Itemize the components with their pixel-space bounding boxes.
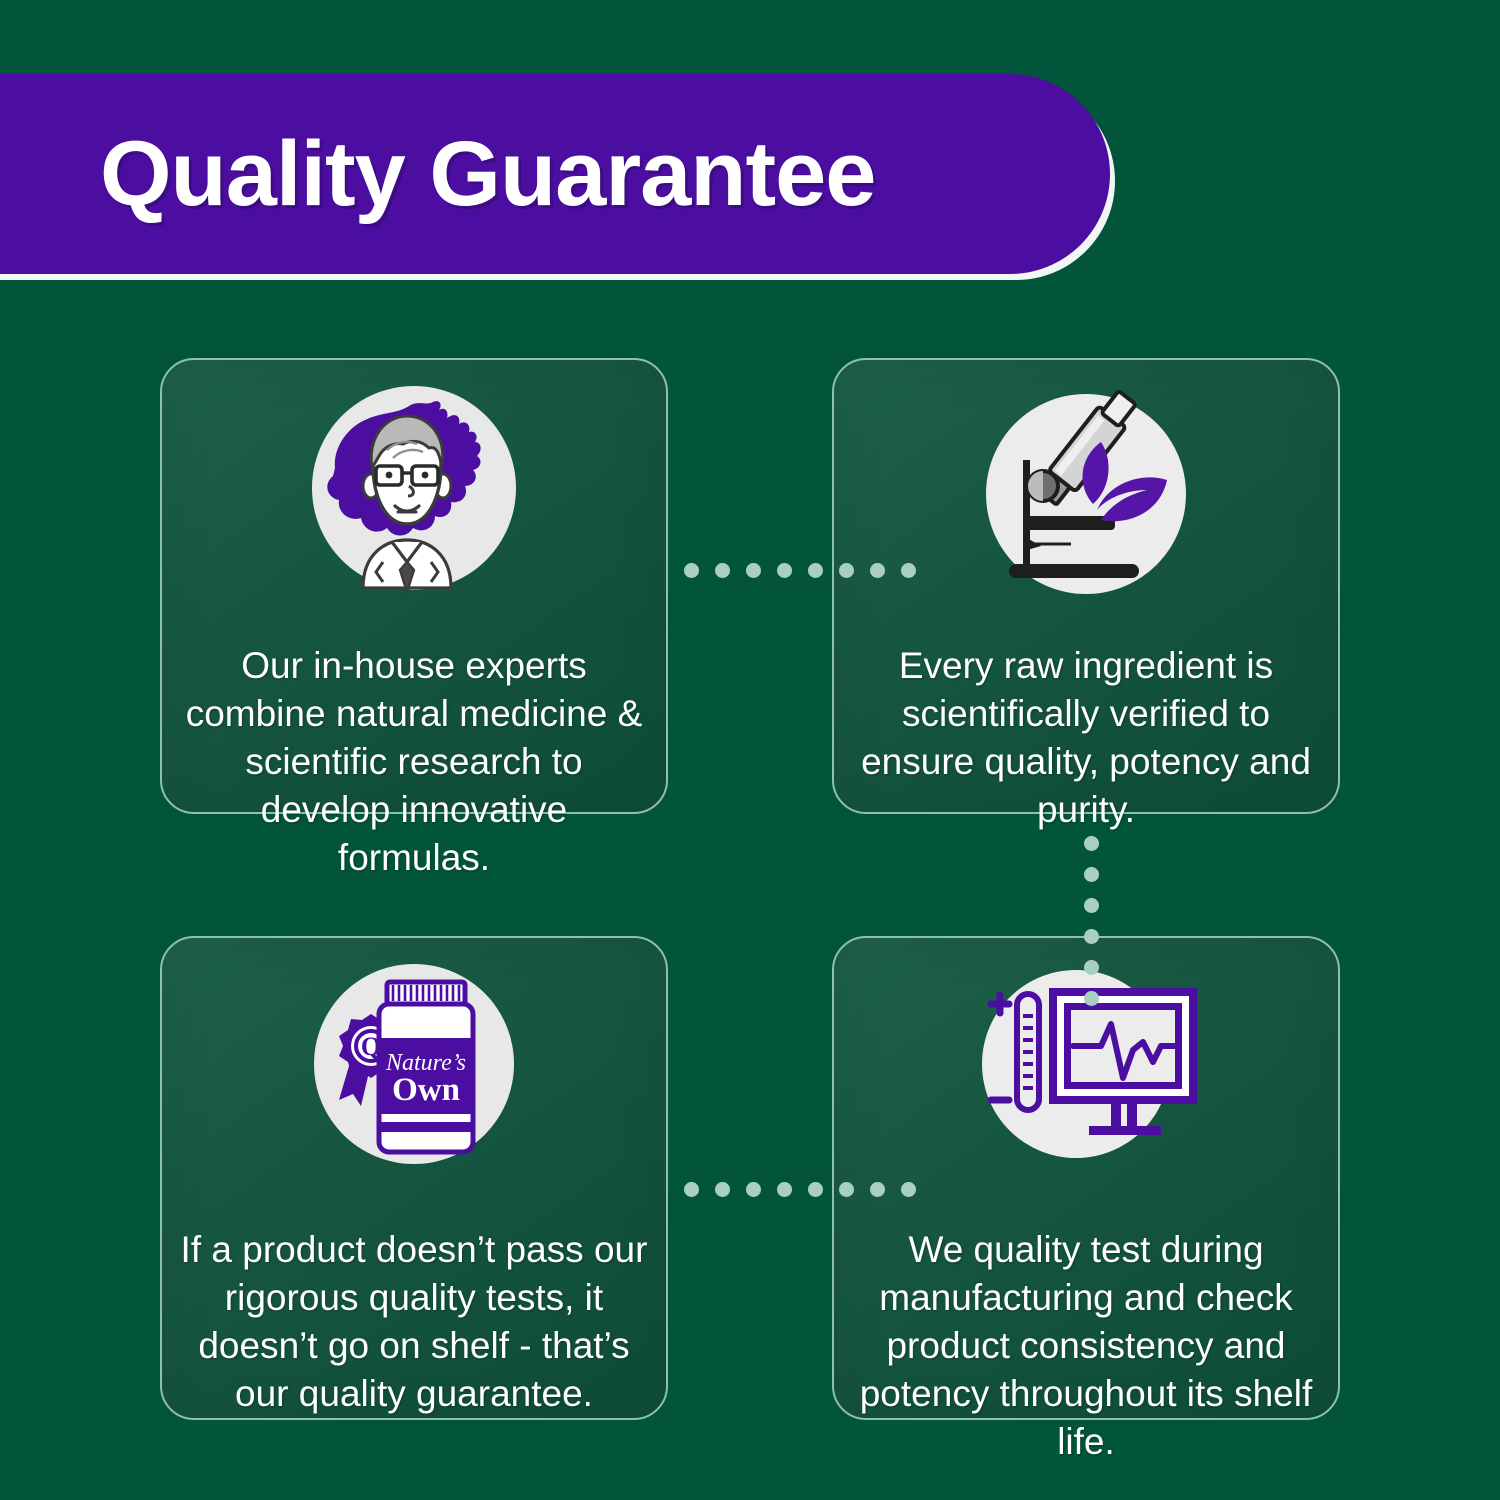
card-ingredients: Every raw ingredient is scientifically v… xyxy=(832,358,1340,814)
connector-dot xyxy=(808,563,823,578)
cards-grid: Our in-house experts combine natural med… xyxy=(160,358,1340,1420)
connector-top-horizontal xyxy=(684,563,916,578)
connector-dot xyxy=(839,563,854,578)
connector-dot xyxy=(777,1182,792,1197)
connector-dot xyxy=(684,563,699,578)
connector-dot xyxy=(715,563,730,578)
connector-dot xyxy=(1084,867,1099,882)
supplement-bottle-award-icon: Q xyxy=(289,954,539,1204)
connector-dot xyxy=(777,563,792,578)
connector-dot xyxy=(1084,836,1099,851)
card-text: We quality test during manufacturing and… xyxy=(834,1204,1338,1466)
connector-dot xyxy=(1084,960,1099,975)
connector-dot xyxy=(684,1182,699,1197)
bottle-brand-line2: Own xyxy=(392,1072,460,1108)
card-shelf-life: We quality test during manufacturing and… xyxy=(832,936,1340,1420)
connector-dot xyxy=(715,1182,730,1197)
infographic-page: Quality Guarantee xyxy=(0,0,1500,1500)
connector-dot xyxy=(839,1182,854,1197)
connector-dot xyxy=(870,1182,885,1197)
australia-map-scientist-icon xyxy=(289,376,539,626)
header-banner: Quality Guarantee xyxy=(0,74,1110,274)
connector-bottom-horizontal xyxy=(684,1182,916,1197)
card-experts: Our in-house experts combine natural med… xyxy=(160,358,668,814)
card-text: Every raw ingredient is scientifically v… xyxy=(834,626,1338,834)
card-quality-tests: Q xyxy=(160,936,668,1420)
connector-dot xyxy=(870,563,885,578)
page-title: Quality Guarantee xyxy=(100,128,875,220)
connector-dot xyxy=(1084,898,1099,913)
microscope-leaf-icon xyxy=(961,376,1211,626)
connector-dot xyxy=(901,1182,916,1197)
card-text: Our in-house experts combine natural med… xyxy=(162,626,666,882)
connector-dot xyxy=(746,1182,761,1197)
connector-dot xyxy=(1084,991,1099,1006)
connector-dot xyxy=(808,1182,823,1197)
connector-dot xyxy=(1084,929,1099,944)
connector-dot xyxy=(901,563,916,578)
card-text: If a product doesn’t pass our rigorous q… xyxy=(162,1204,666,1418)
connector-right-vertical xyxy=(1084,836,1099,1006)
connector-dot xyxy=(746,563,761,578)
